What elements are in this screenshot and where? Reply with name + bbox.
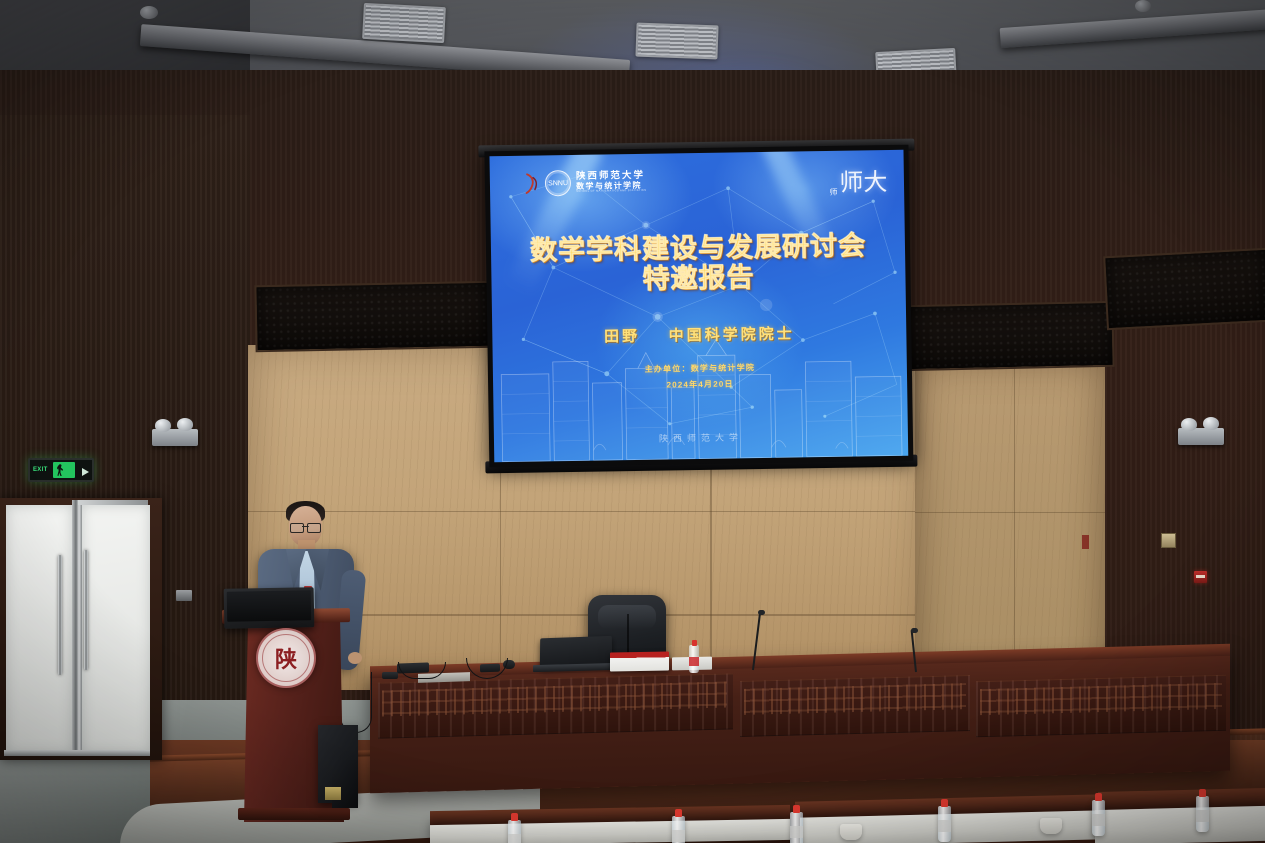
hvac-vent-icon (635, 23, 718, 60)
microphone-head-icon (758, 610, 765, 615)
eyeglasses-icon (290, 523, 321, 531)
acoustic-panel (1103, 248, 1265, 330)
paper-cup[interactable] (1040, 818, 1062, 834)
slide-title-line1: 数学学科建设与发展研讨会 (530, 230, 866, 265)
university-seal-glyph: SNNU (548, 180, 568, 187)
water-bottle[interactable] (672, 816, 685, 843)
ceiling-speaker-icon (140, 6, 158, 19)
emergency-light-head-icon (155, 419, 171, 432)
watermark-large-glyph: 师大 (839, 162, 888, 198)
lens-left (290, 523, 304, 533)
microphone-head-icon (911, 628, 918, 633)
tile-joint (1014, 360, 1016, 690)
lecture-hall-photo: SNNU 陕西师范大学 数学与统计学院 SCHOOL OF MATHEMATIC… (0, 0, 1265, 843)
fire-alarm-call-point[interactable] (1194, 571, 1207, 583)
emergency-light-head-icon (1203, 417, 1219, 430)
emblem-ring (262, 634, 310, 682)
watermark-small-glyph: 师 (829, 187, 837, 198)
audience-desk (1095, 806, 1265, 843)
door-head-rail (78, 500, 148, 505)
name-card-box (610, 651, 669, 671)
door-handle[interactable] (58, 555, 62, 675)
speaker-title: 中国科学院院士 (669, 326, 795, 345)
water-bottle[interactable] (1196, 796, 1209, 832)
university-emblem: 陕 (256, 628, 316, 688)
speaker-hand (348, 652, 362, 664)
presentation-slide: SNNU 陕西师范大学 数学与统计学院 SCHOOL OF MATHEMATIC… (490, 150, 909, 462)
emergency-light-head-icon (1181, 418, 1197, 431)
door-handle[interactable] (84, 550, 88, 670)
slide-title: 数学学科建设与发展研讨会 特邀报告 (491, 229, 906, 297)
exit-arrow-icon (80, 466, 89, 475)
av-device (382, 672, 398, 679)
ceiling-speaker-icon (1135, 0, 1151, 12)
wall-plate (176, 590, 192, 601)
speaker-name: 田野 (604, 328, 640, 346)
slide-title-line2: 特邀报告 (491, 260, 905, 297)
entrance-door-left[interactable] (6, 505, 72, 753)
door-mullion (72, 500, 82, 756)
podium-monitor[interactable] (224, 587, 315, 629)
paper-cup[interactable] (840, 824, 862, 840)
water-bottle[interactable] (938, 806, 951, 842)
floor-equipment-box (332, 760, 358, 808)
water-bottle[interactable] (790, 812, 803, 843)
tile-joint (248, 511, 928, 513)
school-name-latin: SCHOOL OF MATHEMATICS AND STATISTICS (576, 190, 646, 194)
podium-base (238, 808, 350, 820)
acoustic-panel (254, 281, 494, 353)
water-bottle[interactable] (689, 645, 699, 673)
tile-joint (915, 512, 1105, 514)
university-seal-icon: SNNU (545, 170, 571, 196)
projection-screen: SNNU 陕西师范大学 数学与统计学院 SCHOOL OF MATHEMATIC… (484, 145, 913, 482)
emergency-exit-sign: EXIT (28, 458, 94, 482)
acoustic-panel (904, 301, 1114, 371)
screen-frame: SNNU 陕西师范大学 数学与统计学院 SCHOOL OF MATHEMATIC… (484, 145, 913, 468)
right-stone-wall (915, 360, 1105, 690)
wall-outlet (1161, 533, 1176, 548)
university-logo: SNNU 陕西师范大学 数学与统计学院 SCHOOL OF MATHEMATIC… (523, 169, 647, 197)
hvac-vent-icon (362, 3, 446, 43)
wall-marker (1082, 535, 1089, 549)
water-bottle[interactable] (1092, 800, 1105, 836)
entrance-door-right[interactable] (82, 505, 150, 753)
floor-power-box (325, 787, 341, 800)
water-bottle[interactable] (508, 820, 521, 843)
exit-label: EXIT (33, 467, 48, 473)
watermark-logo: 师 师大 (829, 162, 888, 198)
cable (340, 672, 372, 733)
door-sill (4, 750, 150, 756)
emergency-light-head-icon (177, 418, 193, 431)
lens-right (307, 523, 321, 533)
calligraphy-mark-icon (523, 173, 540, 195)
running-man-icon (53, 462, 75, 478)
